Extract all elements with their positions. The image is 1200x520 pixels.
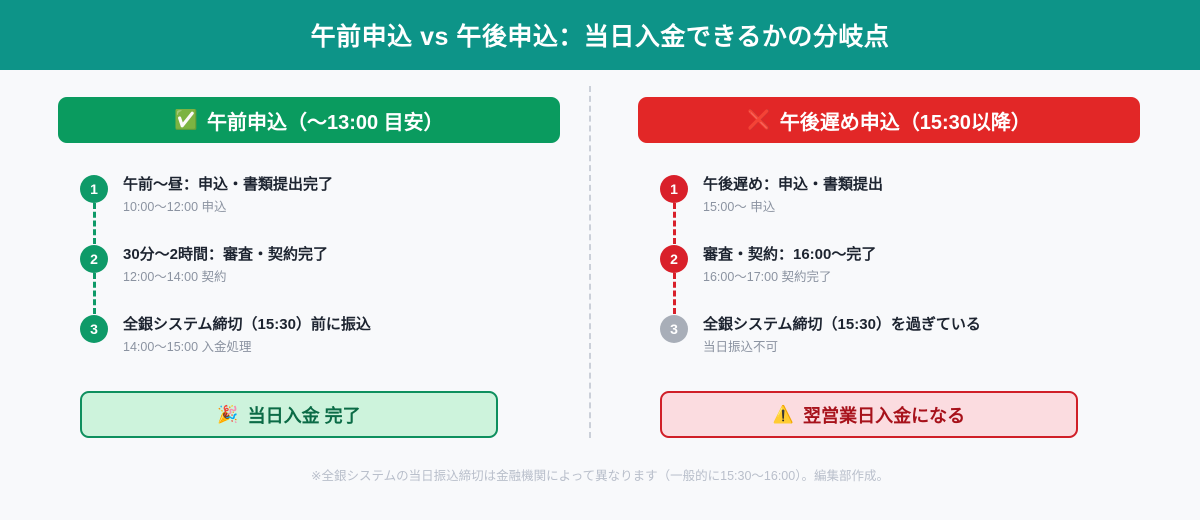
- result-box-morning: 🎉 当日入金 完了: [80, 391, 498, 438]
- step-item: 3 全銀システム締切（15:30）前に振込 14:00〜15:00 入金処理: [80, 314, 560, 368]
- column-header-morning: ✅ 午前申込（〜13:00 目安）: [58, 97, 560, 143]
- step-subtitle: 14:00〜15:00 入金処理: [123, 339, 371, 355]
- column-late-afternoon: ❌ 午後遅め申込（15:30以降） 1 午後遅め：申込・書類提出 15:00〜 …: [638, 97, 1140, 438]
- step-title: 全銀システム締切（15:30）を過ぎている: [703, 315, 981, 335]
- step-subtitle: 10:00〜12:00 申込: [123, 199, 333, 215]
- result-label-late-afternoon: 翌営業日入金になる: [803, 402, 965, 428]
- step-subtitle: 12:00〜14:00 契約: [123, 269, 328, 285]
- step-text: 審査・契約：16:00〜完了 16:00〜17:00 契約完了: [688, 244, 876, 285]
- step-title: 全銀システム締切（15:30）前に振込: [123, 315, 371, 335]
- column-divider: [589, 86, 591, 438]
- step-list-late-afternoon: 1 午後遅め：申込・書類提出 15:00〜 申込 2 審査・契約：16:00〜完…: [638, 174, 1140, 368]
- page-title: 午前申込 vs 午後申込：当日入金できるかの分岐点: [311, 17, 890, 53]
- check-mark-button-emoji: ✅: [174, 111, 198, 130]
- step-connector: [673, 203, 676, 244]
- party-popper-emoji: 🎉: [217, 406, 238, 423]
- step-item: 1 午前〜昼：申込・書類提出完了 10:00〜12:00 申込: [80, 174, 560, 244]
- column-header-late-afternoon: ❌ 午後遅め申込（15:30以降）: [638, 97, 1140, 143]
- step-list-morning: 1 午前〜昼：申込・書類提出完了 10:00〜12:00 申込 2 30分〜2時…: [58, 174, 560, 368]
- step-subtitle: 16:00〜17:00 契約完了: [703, 269, 876, 285]
- step-number-badge: 3: [80, 315, 108, 343]
- step-text: 全銀システム締切（15:30）前に振込 14:00〜15:00 入金処理: [108, 314, 371, 355]
- result-box-late-afternoon: ⚠️ 翌営業日入金になる: [660, 391, 1078, 438]
- warning-emoji: ⚠️: [773, 406, 794, 423]
- page-header-banner: 午前申込 vs 午後申込：当日入金できるかの分岐点: [0, 0, 1200, 70]
- column-morning: ✅ 午前申込（〜13:00 目安） 1 午前〜昼：申込・書類提出完了 10:00…: [58, 97, 560, 438]
- step-text: 午前〜昼：申込・書類提出完了 10:00〜12:00 申込: [108, 174, 333, 215]
- step-number-badge: 1: [80, 175, 108, 203]
- step-number-badge: 2: [80, 245, 108, 273]
- step-number-badge: 2: [660, 245, 688, 273]
- comparison-board: ✅ 午前申込（〜13:00 目安） 1 午前〜昼：申込・書類提出完了 10:00…: [0, 70, 1200, 520]
- step-connector: [673, 273, 676, 314]
- step-number-badge: 1: [660, 175, 688, 203]
- step-text: 午後遅め：申込・書類提出 15:00〜 申込: [688, 174, 883, 215]
- step-subtitle: 15:00〜 申込: [703, 199, 883, 215]
- step-subtitle: 当日振込不可: [703, 339, 981, 355]
- cross-mark-emoji: ❌: [747, 111, 771, 130]
- step-connector: [93, 273, 96, 314]
- column-header-label-morning: 午前申込（〜13:00 目安）: [207, 106, 444, 135]
- step-number-badge: 3: [660, 315, 688, 343]
- step-connector: [93, 203, 96, 244]
- step-title: 午前〜昼：申込・書類提出完了: [123, 175, 333, 195]
- step-title: 審査・契約：16:00〜完了: [703, 245, 876, 265]
- step-item: 3 全銀システム締切（15:30）を過ぎている 当日振込不可: [660, 314, 1140, 368]
- result-label-morning: 当日入金 完了: [248, 402, 361, 428]
- step-item: 1 午後遅め：申込・書類提出 15:00〜 申込: [660, 174, 1140, 244]
- footer-note: ※全銀システムの当日振込締切は金融機関によって異なります（一般的に15:30〜1…: [0, 465, 1200, 484]
- step-text: 30分〜2時間：審査・契約完了 12:00〜14:00 契約: [108, 244, 328, 285]
- step-item: 2 審査・契約：16:00〜完了 16:00〜17:00 契約完了: [660, 244, 1140, 314]
- column-header-label-late-afternoon: 午後遅め申込（15:30以降）: [780, 106, 1031, 135]
- step-title: 30分〜2時間：審査・契約完了: [123, 245, 328, 265]
- step-text: 全銀システム締切（15:30）を過ぎている 当日振込不可: [688, 314, 981, 355]
- step-title: 午後遅め：申込・書類提出: [703, 175, 883, 195]
- step-item: 2 30分〜2時間：審査・契約完了 12:00〜14:00 契約: [80, 244, 560, 314]
